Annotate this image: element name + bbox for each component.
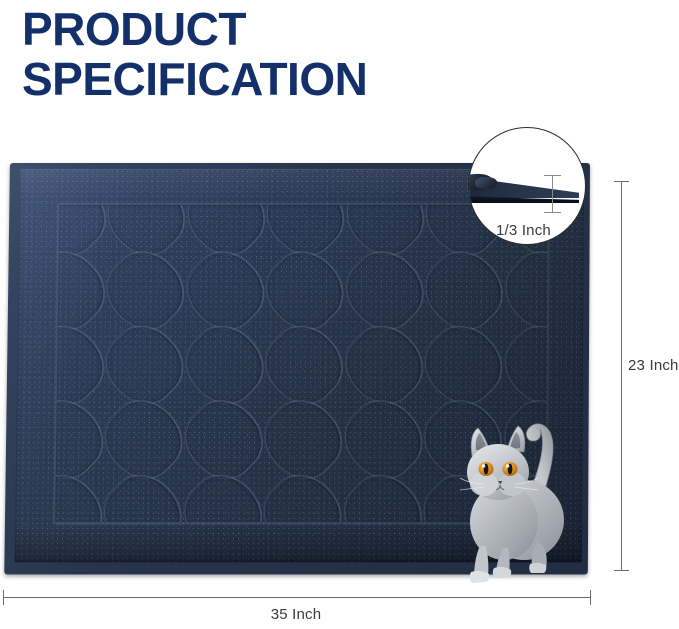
cat-front-paw-right xyxy=(493,567,511,578)
cat-hind-paw xyxy=(529,563,546,573)
width-tick-right xyxy=(590,590,591,605)
height-dimension-line xyxy=(614,181,630,571)
thickness-measure-icon xyxy=(543,175,563,213)
width-dimension-line xyxy=(3,590,591,606)
cat-eye-highlight-left xyxy=(482,464,485,467)
page-title: PRODUCT SPECIFICATION xyxy=(22,4,492,104)
height-dimension-stem xyxy=(621,181,622,571)
cat-front-paw-left xyxy=(470,571,489,583)
british-shorthair-cat-image xyxy=(452,396,592,588)
thickness-label: 1/3 Inch xyxy=(496,222,586,239)
height-dimension-label: 23 Inch xyxy=(628,357,679,374)
width-dimension-label: 35 Inch xyxy=(0,606,592,623)
width-dimension-stem xyxy=(3,597,591,598)
height-tick-bottom xyxy=(614,570,629,571)
cat-eye-highlight-right xyxy=(506,464,509,467)
